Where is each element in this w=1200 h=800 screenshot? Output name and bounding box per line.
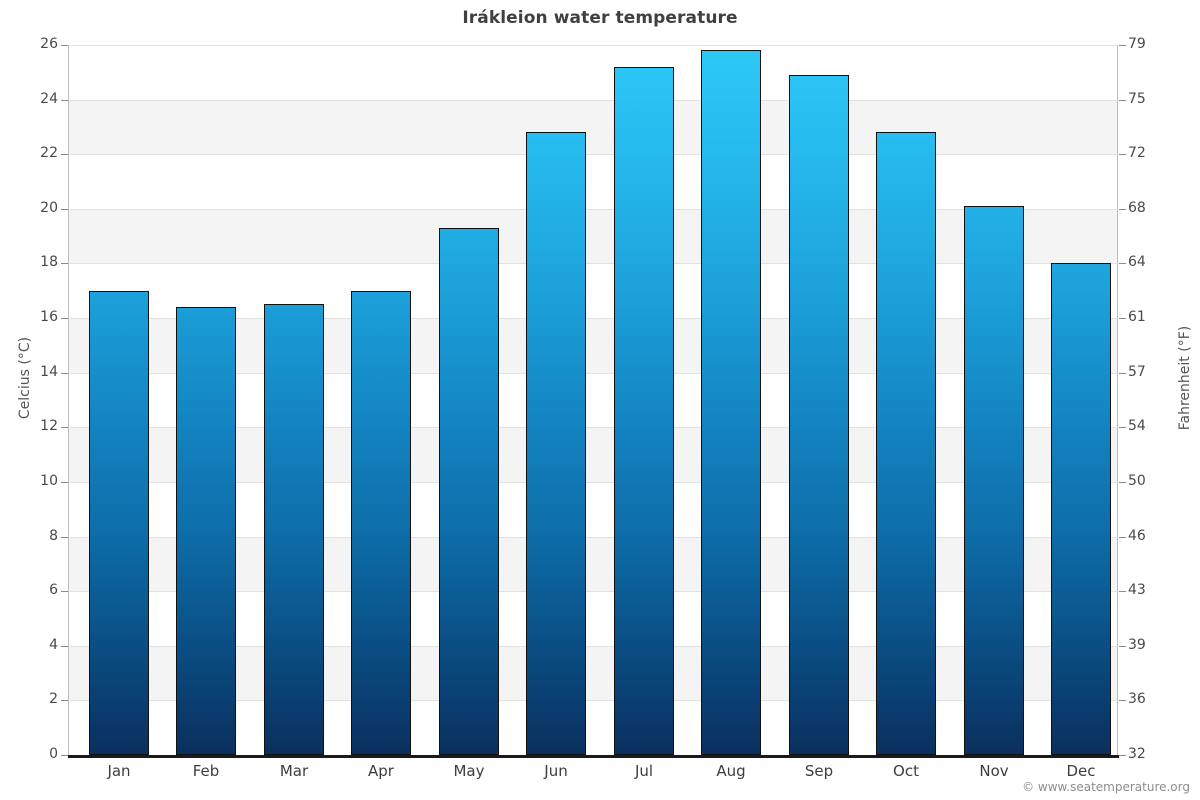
x-tick-label-sep: Sep [779,762,859,780]
y-tick-label-right: 57 [1128,364,1178,380]
y-tick-label-right: 43 [1128,582,1178,598]
x-tick-label-feb: Feb [166,762,246,780]
y-tick-label-left: 22 [0,145,58,161]
bar-jul[interactable] [614,67,674,755]
x-tick-label-jun: Jun [516,762,596,780]
bar-aug[interactable] [701,50,761,755]
x-tick-label-oct: Oct [866,762,946,780]
bar-jun[interactable] [526,132,586,755]
y-tick-label-left: 26 [0,36,58,52]
chart-title: Irákleion water temperature [0,8,1200,28]
y-tick-mark-left [61,591,68,592]
y-tick-mark-right [1119,700,1126,701]
y-tick-mark-left [61,700,68,701]
y-axis-right-title: Fahrenheit (°F) [1177,268,1193,488]
bar-sep[interactable] [789,75,849,755]
y-tick-mark-right [1119,755,1126,756]
x-tick-label-may: May [429,762,509,780]
y-tick-mark-left [61,45,68,46]
x-tick-label-nov: Nov [954,762,1034,780]
y-tick-mark-left [61,209,68,210]
bar-mar[interactable] [264,304,324,755]
y-tick-mark-right [1119,100,1126,101]
y-tick-mark-right [1119,537,1126,538]
x-tick-label-jan: Jan [79,762,159,780]
x-tick-label-aug: Aug [691,762,771,780]
y-tick-label-right: 50 [1128,473,1178,489]
y-tick-mark-right [1119,427,1126,428]
grid-band [68,100,1118,155]
y-tick-mark-left [61,646,68,647]
x-tick-label-apr: Apr [341,762,421,780]
bar-may[interactable] [439,228,499,755]
bar-oct[interactable] [876,132,936,755]
y-tick-label-right: 72 [1128,145,1178,161]
y-tick-mark-right [1119,646,1126,647]
y-tick-mark-left [61,427,68,428]
y-tick-label-right: 39 [1128,637,1178,653]
y-tick-mark-right [1119,373,1126,374]
y-tick-label-right: 61 [1128,309,1178,325]
gridline [68,45,1118,46]
x-tick-label-mar: Mar [254,762,334,780]
y-tick-mark-right [1119,263,1126,264]
y-tick-mark-right [1119,591,1126,592]
bar-apr[interactable] [351,291,411,755]
gridline [68,263,1118,264]
x-tick-label-dec: Dec [1041,762,1121,780]
x-axis-line [68,755,1119,758]
x-tick-label-jul: Jul [604,762,684,780]
plot-area [68,45,1118,755]
y-tick-mark-right [1119,318,1126,319]
y-tick-label-left: 2 [0,691,58,707]
bar-dec[interactable] [1051,263,1111,755]
water-temperature-chart: Irákleion water temperature 024681012141… [0,0,1200,800]
y-tick-mark-right [1119,154,1126,155]
y-tick-mark-left [61,537,68,538]
bar-nov[interactable] [964,206,1024,755]
y-axis-left-title: Celcius (°C) [17,268,33,488]
y-tick-label-right: 68 [1128,200,1178,216]
y-tick-mark-left [61,373,68,374]
y-tick-mark-left [61,154,68,155]
copyright-credit: © www.seatemperature.org [1022,780,1190,794]
gridline [68,100,1118,101]
grid-band [68,209,1118,264]
y-tick-label-right: 32 [1128,746,1178,762]
y-tick-mark-left [61,482,68,483]
y-tick-label-left: 0 [0,746,58,762]
y-tick-mark-left [61,263,68,264]
gridline [68,154,1118,155]
y-tick-label-left: 6 [0,582,58,598]
y-tick-mark-right [1119,482,1126,483]
y-tick-mark-left [61,755,68,756]
y-tick-mark-left [61,318,68,319]
y-tick-label-right: 64 [1128,254,1178,270]
y-tick-label-right: 75 [1128,91,1178,107]
y-tick-label-left: 24 [0,91,58,107]
bar-feb[interactable] [176,307,236,755]
y-tick-mark-right [1119,209,1126,210]
y-tick-mark-left [61,100,68,101]
y-tick-label-left: 20 [0,200,58,216]
gridline [68,209,1118,210]
bar-jan[interactable] [89,291,149,755]
y-tick-label-left: 4 [0,637,58,653]
y-tick-label-right: 46 [1128,528,1178,544]
y-tick-mark-right [1119,45,1126,46]
y-tick-label-right: 36 [1128,691,1178,707]
y-tick-label-right: 79 [1128,36,1178,52]
y-tick-label-right: 54 [1128,418,1178,434]
y-tick-label-left: 8 [0,528,58,544]
